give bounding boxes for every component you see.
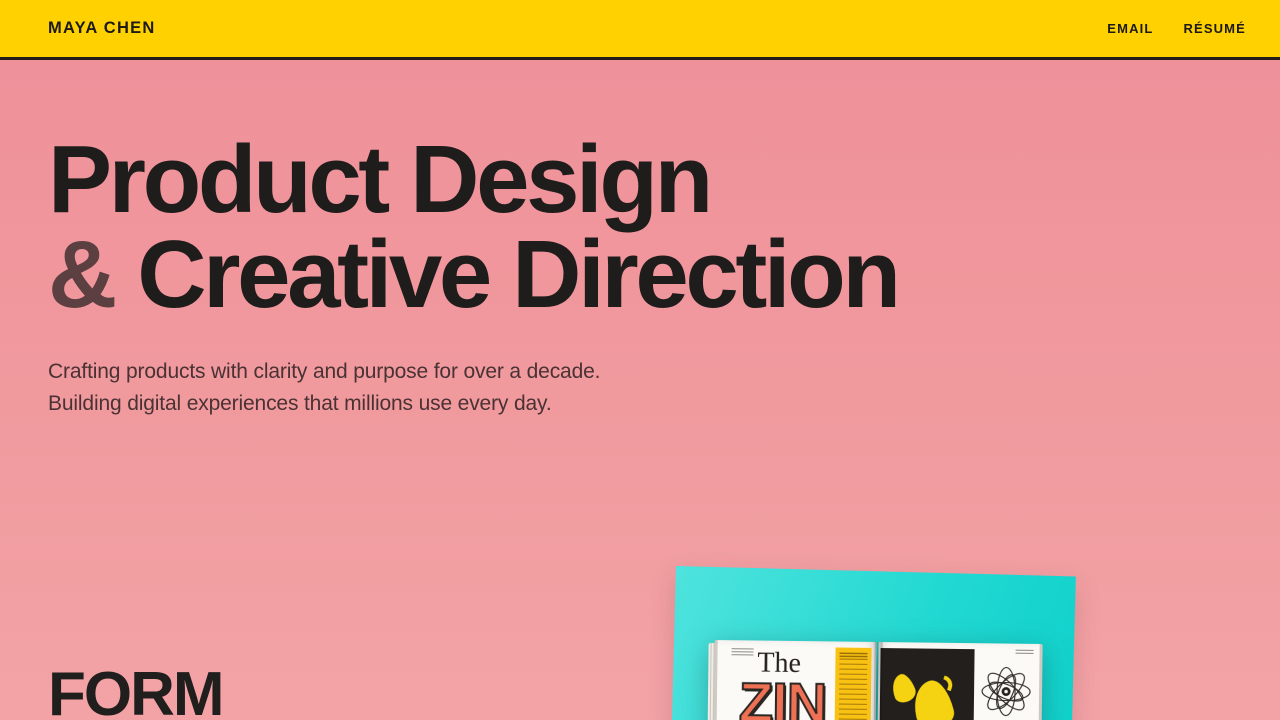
magazine-spine (873, 642, 882, 720)
zine-title-word: ZIN (739, 674, 827, 720)
site-header: MAYA CHEN EMAIL RÉSUMÉ (0, 0, 1280, 60)
open-magazine-photo: The ZIN (713, 640, 1042, 720)
nav-link-resume[interactable]: RÉSUMÉ (1183, 21, 1246, 36)
magazine-right-page (877, 642, 1042, 720)
page-folio-lines (1016, 650, 1034, 655)
pear-shape-small-icon (888, 671, 919, 705)
zine-yellow-sidebar (834, 647, 871, 720)
zine-sidebar-heading-lines (839, 653, 867, 660)
hero-subhead: Crafting products with clarity and purpo… (48, 356, 1232, 420)
nav-link-email[interactable]: EMAIL (1107, 21, 1153, 36)
brand-wordmark[interactable]: MAYA CHEN (48, 19, 156, 38)
atom-flower-drawing-icon (978, 665, 1035, 718)
primary-nav: EMAIL RÉSUMÉ (1107, 21, 1246, 36)
hero-section: Product Design & Creative Direction Craf… (0, 60, 1280, 420)
page-title: Product Design & Creative Direction (48, 132, 1232, 322)
ampersand-glyph: & (48, 221, 114, 328)
subhead-line-2: Building digital experiences that millio… (48, 388, 1232, 420)
headline-line-2: & Creative Direction (48, 227, 1232, 322)
zine-kicker-lines (731, 648, 753, 656)
zine-sidebar-body-lines (839, 664, 868, 720)
black-illustration-panel (879, 648, 974, 720)
subhead-line-1: Crafting products with clarity and purpo… (48, 356, 1232, 388)
page-root: MAYA CHEN EMAIL RÉSUMÉ Product Design & … (0, 0, 1280, 720)
headline-line-2-text: Creative Direction (137, 221, 897, 328)
section-heading-form: FORM (48, 664, 223, 720)
headline-line-1: Product Design (48, 132, 1232, 227)
showcase-figure: The ZIN (676, 552, 1080, 720)
magazine-left-page: The ZIN (713, 640, 876, 720)
